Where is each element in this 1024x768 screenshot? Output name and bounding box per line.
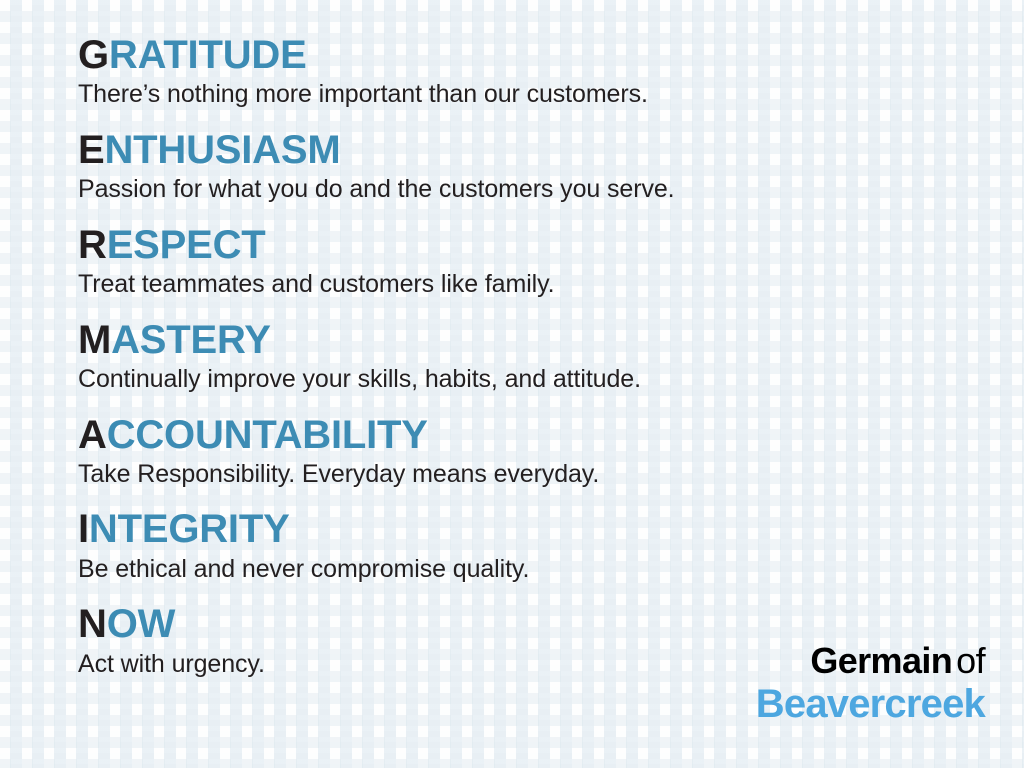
value-rest-accountability: CCOUNTABILITY — [107, 413, 428, 457]
value-rest-now: OW — [107, 602, 175, 646]
brand-connector: of — [956, 640, 985, 681]
value-heading-gratitude: GRATITUDE — [78, 34, 994, 76]
brand-location: Beavercreek — [756, 683, 985, 726]
value-lead-letter-gratitude: G — [78, 33, 109, 77]
core-values-list: GRATITUDE There’s nothing more important… — [78, 34, 994, 679]
value-item-gratitude: GRATITUDE There’s nothing more important… — [78, 34, 994, 110]
value-description-mastery: Continually improve your skills, habits,… — [78, 365, 994, 395]
value-description-integrity: Be ethical and never compromise quality. — [78, 555, 994, 585]
value-item-accountability: ACCOUNTABILITY Take Responsibility. Ever… — [78, 414, 994, 490]
value-item-respect: RESPECT Treat teammates and customers li… — [78, 224, 994, 300]
value-lead-letter-mastery: M — [78, 318, 111, 362]
poster-canvas: GRATITUDE There’s nothing more important… — [0, 0, 1024, 768]
value-rest-gratitude: RATITUDE — [109, 33, 307, 77]
value-heading-respect: RESPECT — [78, 224, 994, 266]
value-lead-letter-integrity: I — [78, 507, 89, 551]
value-lead-letter-respect: R — [78, 223, 107, 267]
value-lead-letter-now: N — [78, 602, 107, 646]
value-heading-accountability: ACCOUNTABILITY — [78, 414, 994, 456]
value-item-integrity: INTEGRITY Be ethical and never compromis… — [78, 508, 994, 584]
value-description-respect: Treat teammates and customers like famil… — [78, 270, 994, 300]
value-description-accountability: Take Responsibility. Everyday means ever… — [78, 460, 994, 490]
value-lead-letter-accountability: A — [78, 413, 107, 457]
brand-primary-line: Germainof — [756, 642, 985, 681]
value-rest-respect: ESPECT — [107, 223, 266, 267]
value-rest-enthusiasm: NTHUSIASM — [104, 128, 340, 172]
value-description-gratitude: There’s nothing more important than our … — [78, 80, 994, 110]
value-rest-integrity: NTEGRITY — [89, 507, 290, 551]
value-item-enthusiasm: ENTHUSIASM Passion for what you do and t… — [78, 129, 994, 205]
value-rest-mastery: ASTERY — [111, 318, 271, 362]
value-heading-integrity: INTEGRITY — [78, 508, 994, 550]
value-description-enthusiasm: Passion for what you do and the customer… — [78, 175, 994, 205]
brand-name: Germain — [810, 640, 952, 681]
value-lead-letter-enthusiasm: E — [78, 128, 104, 172]
value-heading-enthusiasm: ENTHUSIASM — [78, 129, 994, 171]
value-item-mastery: MASTERY Continually improve your skills,… — [78, 319, 994, 395]
value-heading-mastery: MASTERY — [78, 319, 994, 361]
brand-logo: Germainof Beavercreek — [756, 642, 985, 726]
